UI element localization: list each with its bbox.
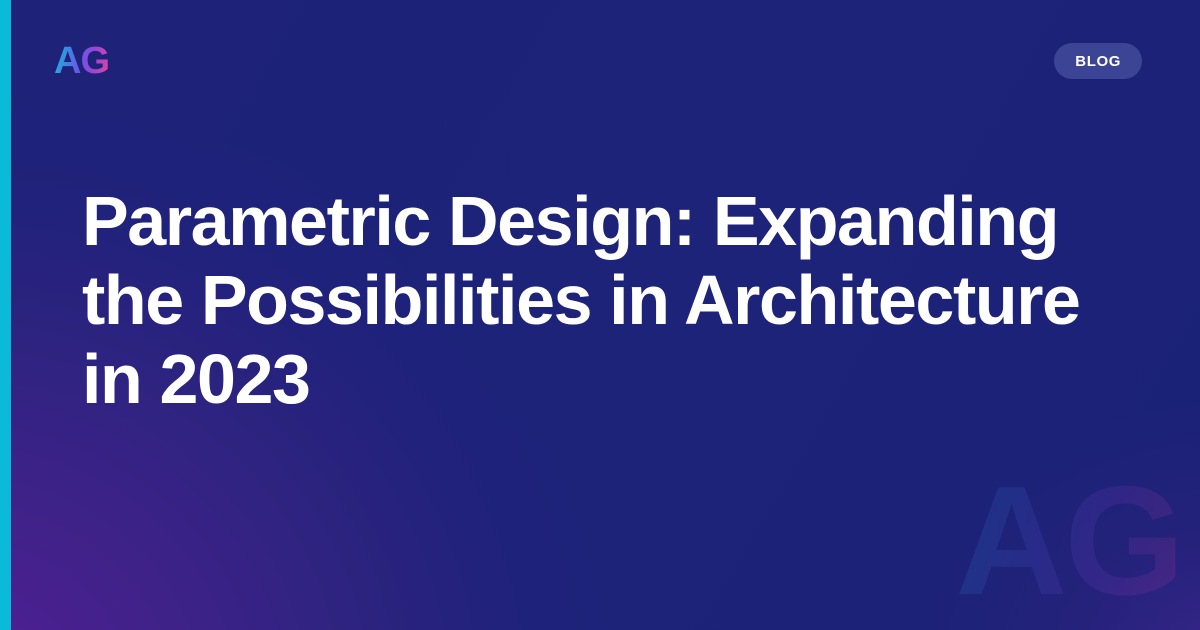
status-badge[interactable]: BLOG: [1054, 43, 1142, 79]
brand-logo[interactable]: AG: [54, 42, 109, 80]
page-title: Parametric Design: Expanding the Possibi…: [82, 182, 1102, 419]
blog-share-card: AG AG BLOG Parametric Design: Expanding …: [0, 0, 1200, 630]
card-header: AG BLOG: [0, 0, 1200, 122]
brand-watermark: AG: [956, 463, 1183, 618]
